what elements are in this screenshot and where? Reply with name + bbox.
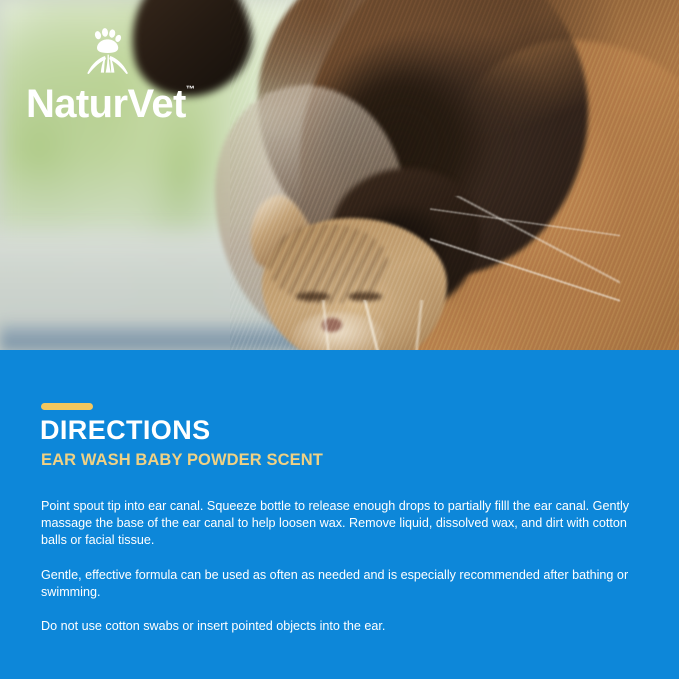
directions-paragraph-2: Gentle, effective formula can be used as…	[41, 567, 633, 601]
directions-paragraph-3: Do not use cotton swabs or insert pointe…	[41, 618, 633, 635]
naturvet-logo: NaturVet™	[26, 26, 206, 124]
logo-wordmark: NaturVet™	[26, 84, 206, 124]
directions-panel: DIRECTIONS EAR WASH BABY POWDER SCENT Po…	[0, 350, 679, 679]
hero-photo: NaturVet™	[0, 0, 679, 350]
product-name-subtitle: EAR WASH BABY POWDER SCENT	[41, 451, 323, 469]
paw-print-over-grass-logo-mark	[74, 26, 138, 82]
dog-whiskers	[430, 196, 620, 306]
cat-whiskers	[250, 300, 500, 350]
directions-body: Point spout tip into ear canal. Squeeze …	[41, 498, 633, 635]
page-title: DIRECTIONS	[40, 416, 211, 446]
product-directions-page: NaturVet™ DIRECTIONS EAR WASH BABY POWDE…	[0, 0, 679, 679]
gold-accent-bar	[41, 403, 93, 410]
trademark-symbol: ™	[186, 85, 195, 94]
directions-paragraph-1: Point spout tip into ear canal. Squeeze …	[41, 498, 633, 550]
logo-wordmark-text: NaturVet	[26, 82, 186, 126]
